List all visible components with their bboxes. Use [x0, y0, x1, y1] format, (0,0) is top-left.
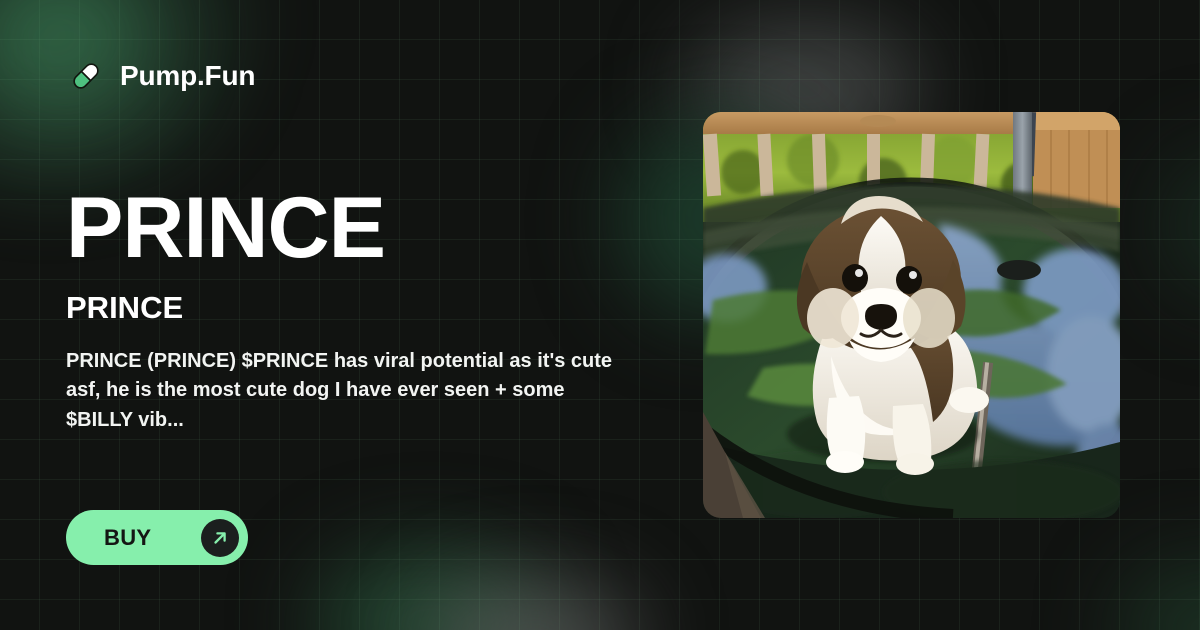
decorative-blob-green-bottom-left	[316, 548, 546, 630]
decorative-glow-top-left	[0, 0, 260, 200]
buy-button-label: BUY	[104, 525, 151, 551]
token-symbol: PRINCE	[66, 290, 666, 326]
pill-capsule-icon	[66, 56, 106, 96]
puppy-photo	[703, 112, 1120, 518]
arrow-up-right-icon	[201, 519, 239, 557]
brand-header: Pump.Fun	[66, 56, 255, 96]
token-image	[703, 112, 1120, 518]
decorative-blob-green-bottom-right	[1120, 560, 1200, 630]
decorative-blob-green-right	[1160, 150, 1200, 300]
decorative-blob-gray-bottom-left	[430, 580, 640, 630]
buy-button[interactable]: BUY	[66, 510, 248, 565]
page-title: PRINCE	[66, 186, 666, 270]
token-info: PRINCE PRINCE PRINCE (PRINCE) $PRINCE ha…	[66, 186, 666, 435]
pump-fun-token-card: Pump.Fun PRINCE PRINCE PRINCE (PRINCE) $…	[0, 0, 1200, 630]
token-description: PRINCE (PRINCE) $PRINCE has viral potent…	[66, 347, 636, 435]
brand-name: Pump.Fun	[120, 60, 255, 92]
